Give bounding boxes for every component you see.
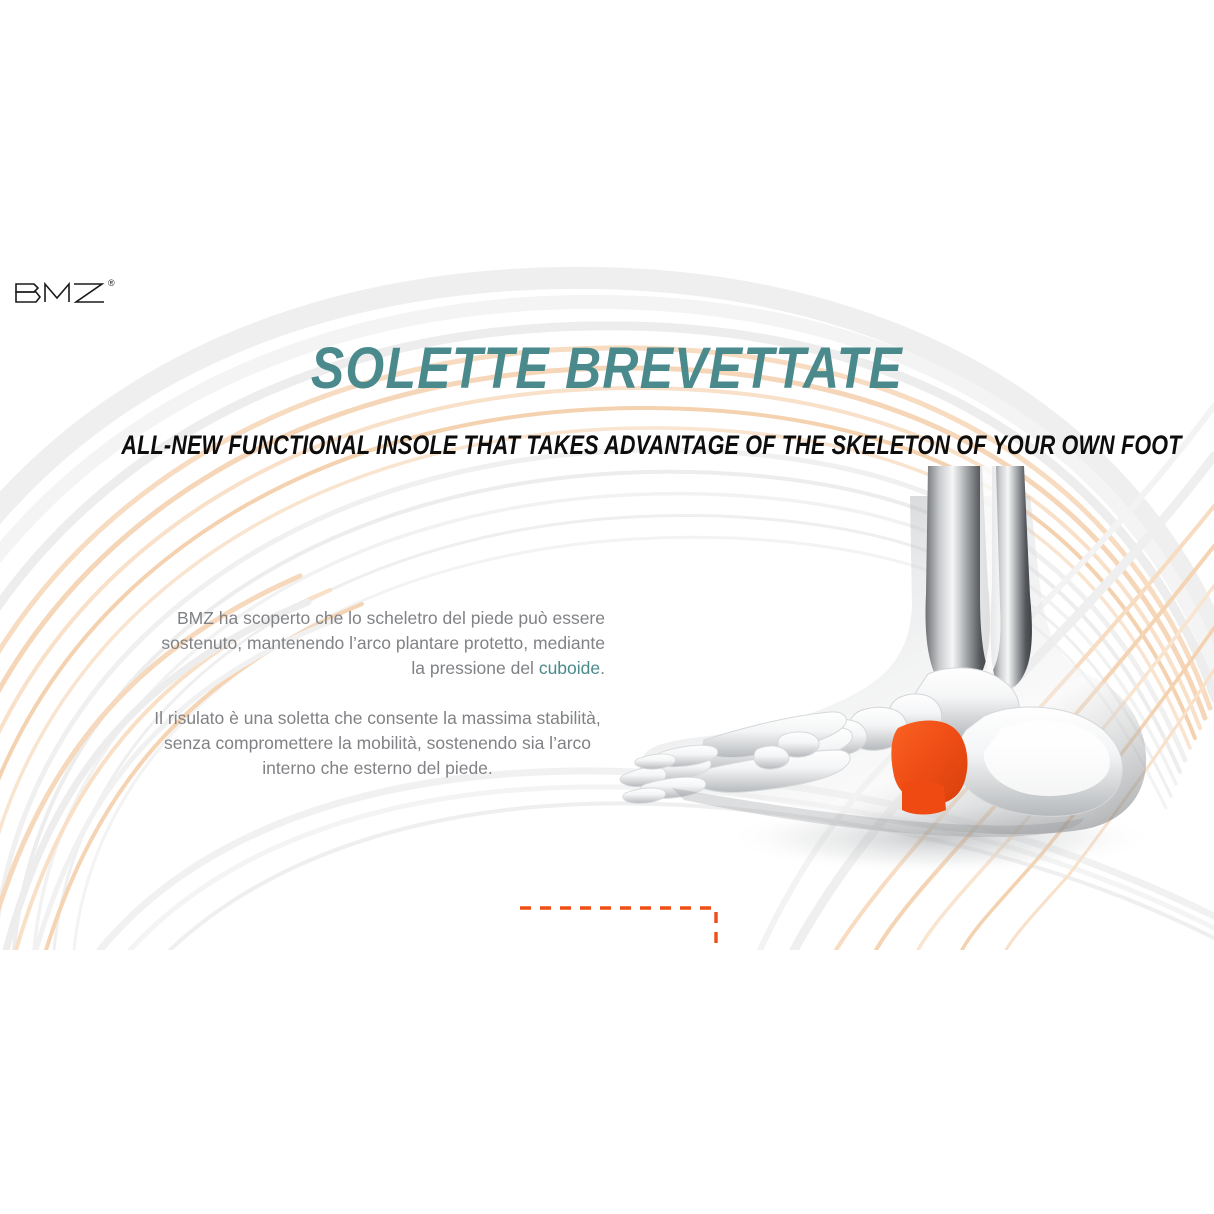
- leg-highlight: [980, 466, 1001, 674]
- foot-skin-silhouette: [642, 496, 1146, 834]
- banner-content-area: ® SOLETTE BREVETTATE ALL-NEW FUNCTIONAL …: [0, 256, 1214, 950]
- cuneiform-lateral-bone: [848, 707, 907, 750]
- bmz-logo[interactable]: ®: [12, 274, 132, 314]
- page-subtitle: ALL-NEW FUNCTIONAL INSOLE THAT TAKES ADV…: [121, 430, 1092, 460]
- paragraph-discovery-period: .: [600, 658, 605, 678]
- navicular-bone: [888, 694, 942, 740]
- sole-underside: [672, 788, 1084, 837]
- page-title: SOLETTE BREVETTATE: [85, 338, 1129, 400]
- paragraph-discovery: BMZ ha scoperto che lo scheletro del pie…: [150, 606, 605, 681]
- cuboid-bone-highlight: [891, 721, 967, 805]
- calcaneus-bone: [957, 707, 1123, 816]
- metatarsal-bones: [692, 712, 852, 792]
- paragraph-result: Il risulato è una soletta che consente l…: [150, 706, 605, 781]
- tibia-bone: [926, 466, 991, 691]
- foot-skeleton-illustration: [610, 466, 1170, 886]
- tarsal-small-bones: [754, 732, 819, 769]
- cuboide-highlight: cuboide: [539, 658, 600, 678]
- foot-shadow: [725, 802, 1155, 874]
- calcaneus-highlight: [984, 721, 1110, 796]
- body-copy-block: BMZ ha scoperto che lo scheletro del pie…: [150, 606, 605, 781]
- cuneiform-intermediate-bone: [812, 719, 867, 756]
- phalanx-bones: [620, 745, 718, 803]
- talus-bone: [914, 668, 1019, 738]
- dashed-arrow-connector: [520, 886, 940, 950]
- cuboid-lower-tab: [902, 781, 946, 814]
- connector-path: [520, 908, 904, 950]
- fibula-bone: [991, 466, 1032, 689]
- poster-canvas: ® SOLETTE BREVETTATE ALL-NEW FUNCTIONAL …: [0, 0, 1214, 1214]
- registered-trademark-icon: ®: [108, 278, 115, 288]
